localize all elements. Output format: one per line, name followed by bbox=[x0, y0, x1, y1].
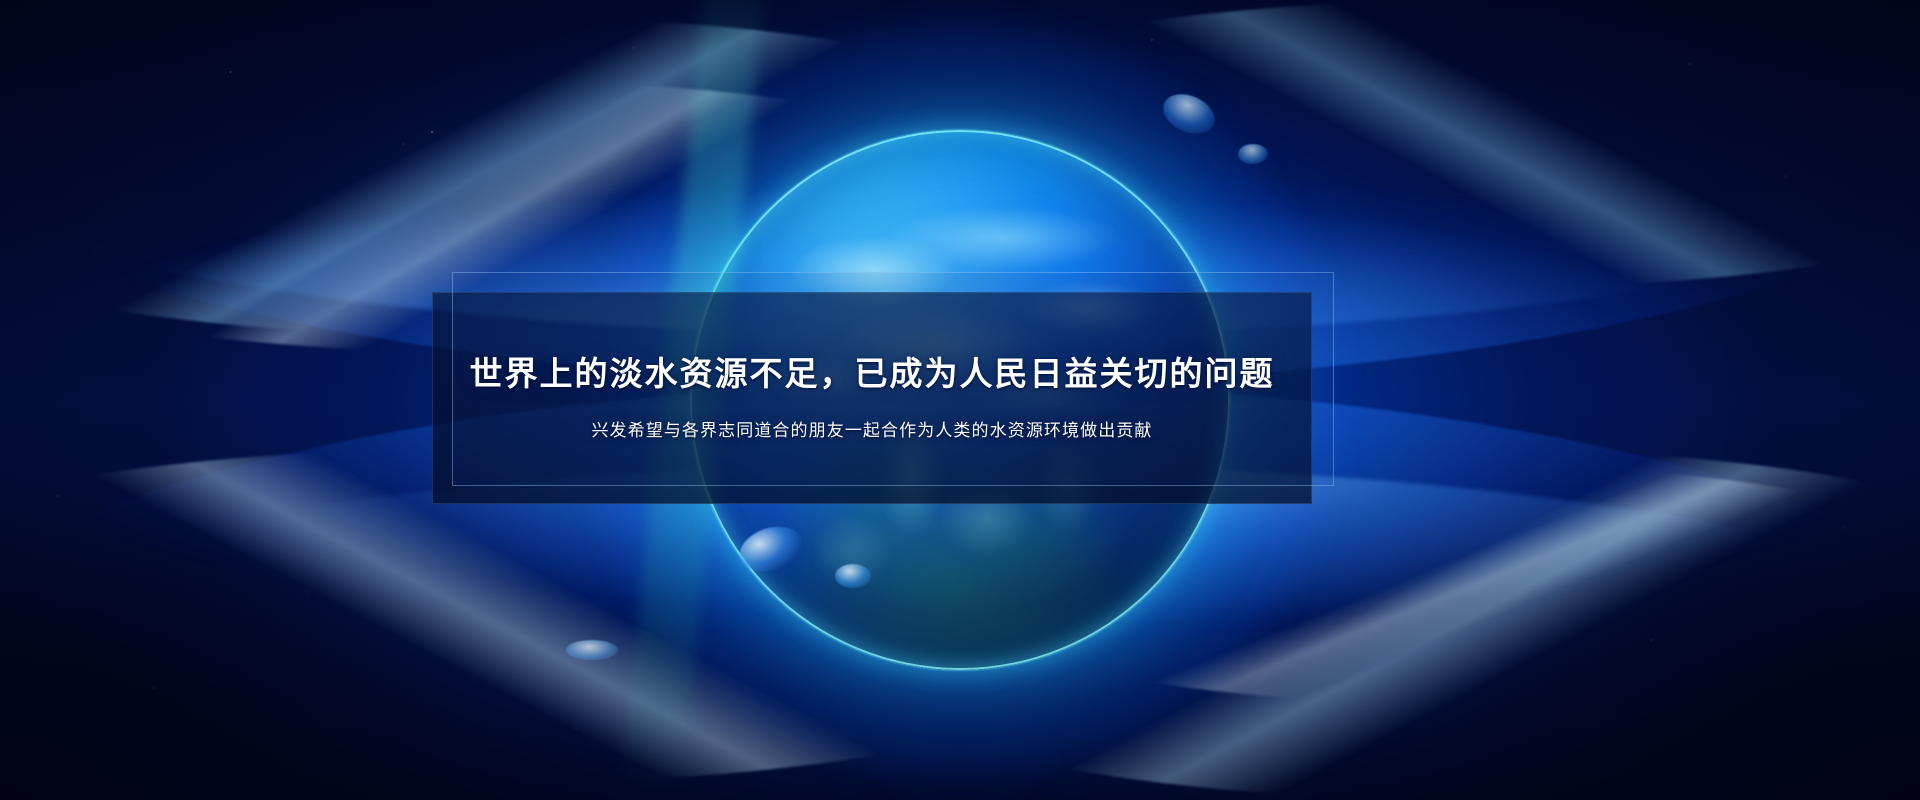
banner-headline: 世界上的淡水资源不足，已成为人民日益关切的问题 bbox=[470, 353, 1275, 394]
banner-subline: 兴发希望与各界志同道合的朋友一起合作为人类的水资源环境做出贡献 bbox=[591, 419, 1152, 443]
caption-panel-content: 世界上的淡水资源不足，已成为人民日益关切的问题 兴发希望与各界志同道合的朋友一起… bbox=[432, 292, 1312, 504]
water-resources-banner: 世界上的淡水资源不足，已成为人民日益关切的问题 兴发希望与各界志同道合的朋友一起… bbox=[0, 0, 1920, 800]
